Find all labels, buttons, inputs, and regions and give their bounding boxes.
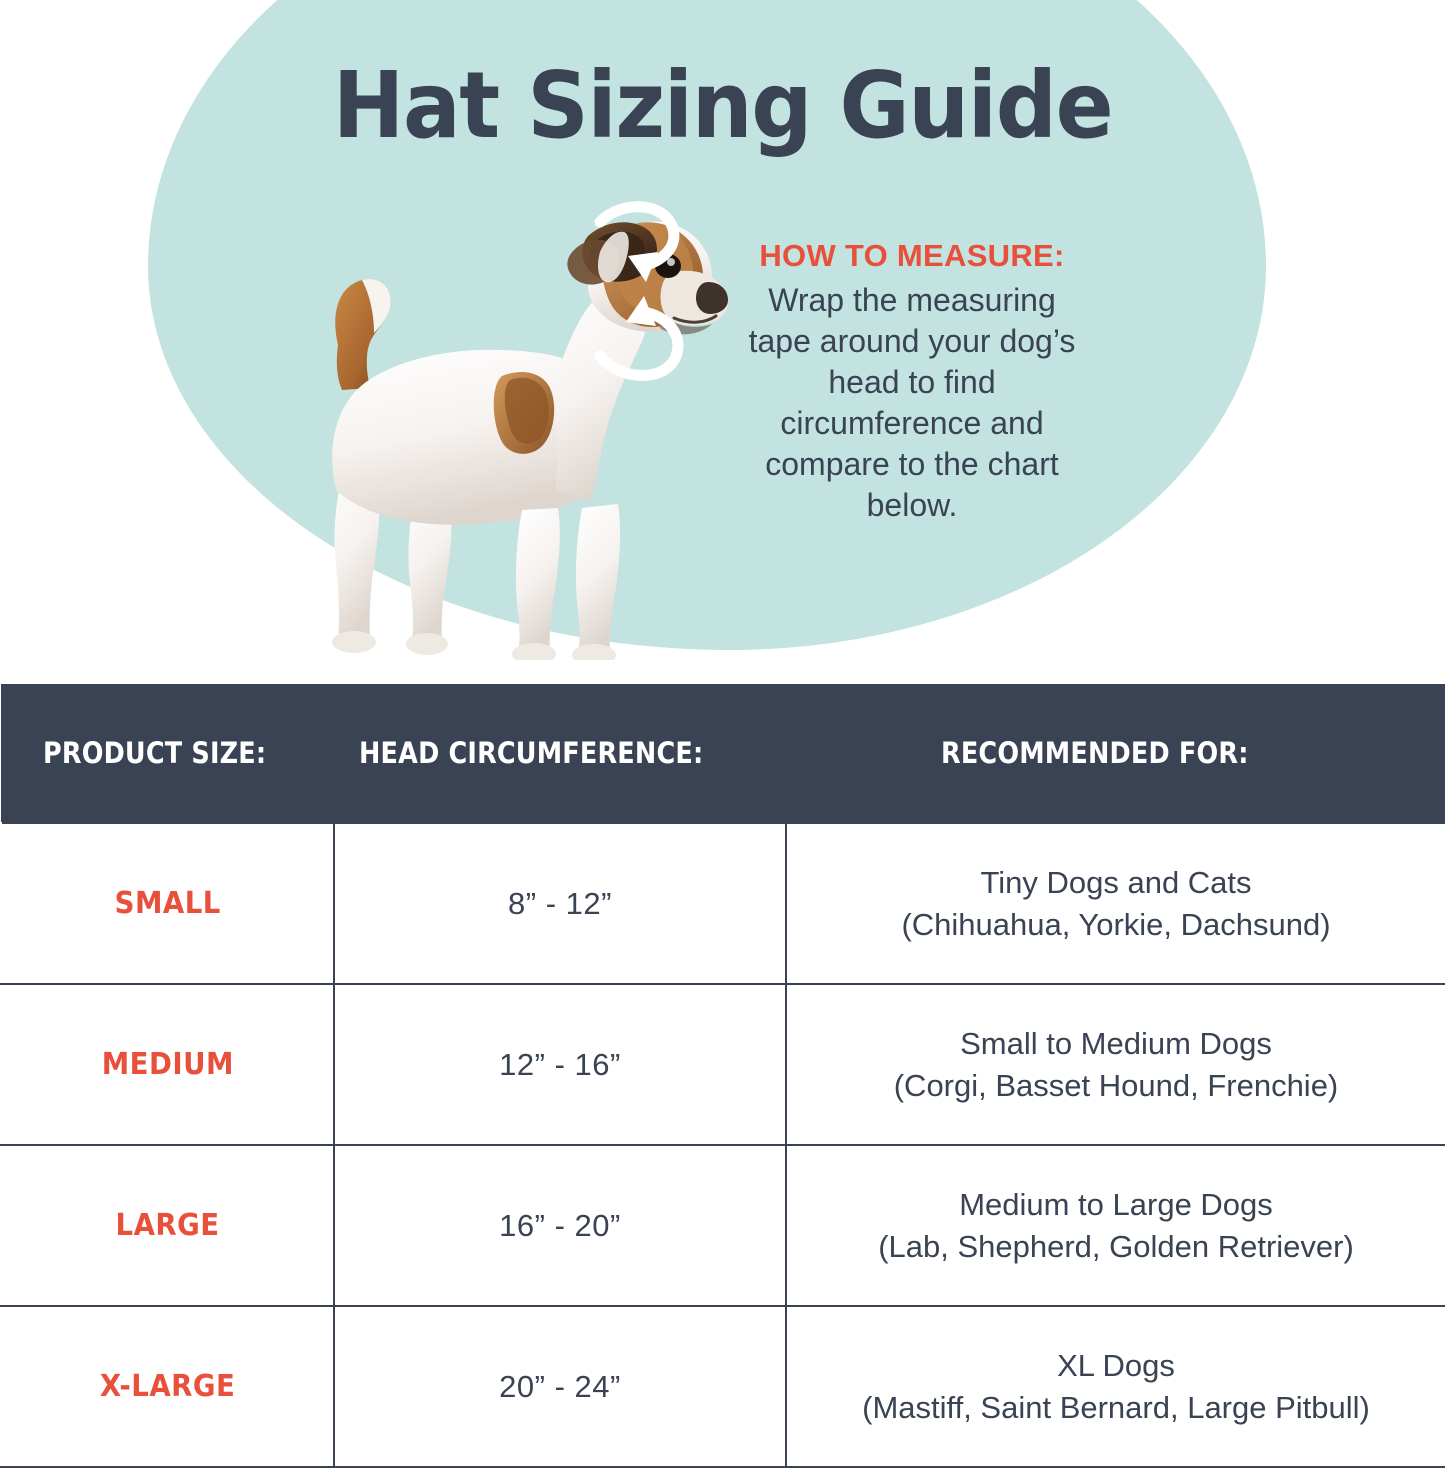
cell-head-circumference: 12” - 16” — [334, 984, 786, 1145]
cell-head-circumference: 8” - 12” — [334, 823, 786, 984]
how-to-measure-body: Wrap the measuring tape around your dog’… — [742, 280, 1082, 526]
dog-illustration — [270, 190, 730, 660]
cell-recommended-for: XL Dogs (Mastiff, Saint Bernard, Large P… — [786, 1306, 1445, 1467]
table-row: SMALL 8” - 12” Tiny Dogs and Cats (Chihu… — [1, 823, 1445, 984]
table-row: MEDIUM 12” - 16” Small to Medium Dogs (C… — [1, 984, 1445, 1145]
cell-product-size: X-LARGE — [1, 1306, 334, 1467]
page-title: Hat Sizing Guide — [51, 52, 1395, 159]
table-row: X-LARGE 20” - 24” XL Dogs (Mastiff, Sain… — [1, 1306, 1445, 1467]
sizing-table: PRODUCT SIZE: HEAD CIRCUMFERENCE: RECOMM… — [0, 684, 1445, 1468]
size-badge-medium: MEDIUM — [101, 1047, 233, 1082]
table-header-row: PRODUCT SIZE: HEAD CIRCUMFERENCE: RECOMM… — [1, 684, 1445, 823]
cell-recommended-for: Medium to Large Dogs (Lab, Shepherd, Gol… — [786, 1145, 1445, 1306]
column-header-head-circumference: HEAD CIRCUMFERENCE: — [334, 684, 786, 823]
cell-recommended-for: Small to Medium Dogs (Corgi, Basset Houn… — [786, 984, 1445, 1145]
column-header-product-size: PRODUCT SIZE: — [1, 684, 334, 823]
cell-product-size: LARGE — [1, 1145, 334, 1306]
table-header: PRODUCT SIZE: HEAD CIRCUMFERENCE: RECOMM… — [1, 684, 1445, 823]
size-badge-x-large: X-LARGE — [100, 1369, 235, 1404]
cell-head-circumference: 16” - 20” — [334, 1145, 786, 1306]
cell-recommended-for: Tiny Dogs and Cats (Chihuahua, Yorkie, D… — [786, 823, 1445, 984]
table-row: LARGE 16” - 20” Medium to Large Dogs (La… — [1, 1145, 1445, 1306]
cell-head-circumference: 20” - 24” — [334, 1306, 786, 1467]
size-badge-large: LARGE — [115, 1208, 219, 1243]
how-to-measure-block: HOW TO MEASURE: Wrap the measuring tape … — [742, 238, 1082, 526]
table-body: SMALL 8” - 12” Tiny Dogs and Cats (Chihu… — [1, 823, 1445, 1467]
column-header-recommended-for: RECOMMENDED FOR: — [786, 684, 1445, 823]
size-badge-small: SMALL — [114, 886, 220, 921]
cell-product-size: SMALL — [1, 823, 334, 984]
hero-section: Hat Sizing Guide — [0, 0, 1445, 684]
cell-product-size: MEDIUM — [1, 984, 334, 1145]
how-to-measure-heading: HOW TO MEASURE: — [742, 238, 1082, 274]
